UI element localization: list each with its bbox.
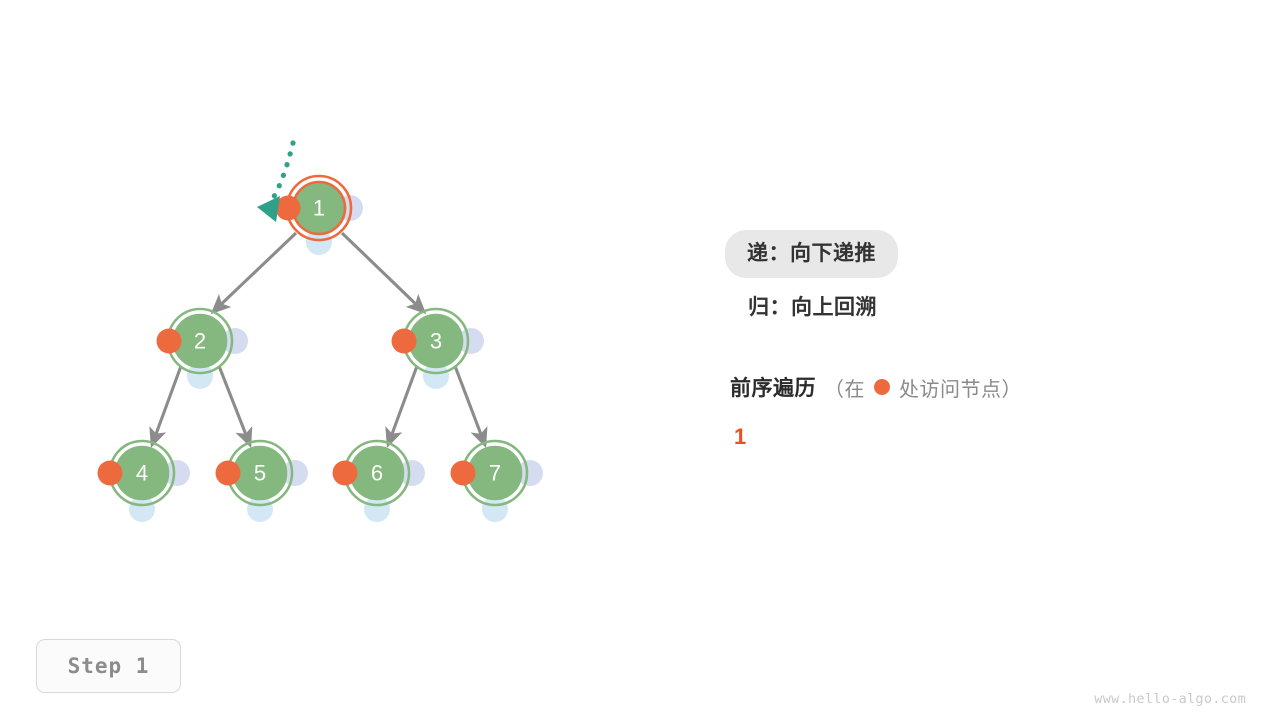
recursion-down-row: 递：向下递推: [726, 230, 1246, 278]
recursion-up-label: 归：向上回溯: [726, 284, 899, 332]
visit-marker-circle-icon: [874, 379, 890, 395]
watermark: www.hello-algo.com: [1094, 691, 1246, 707]
node-6-label: 6: [371, 461, 383, 486]
traversal-paren-open: （在: [824, 373, 865, 402]
tree-node-1[interactable]: 1: [276, 176, 364, 255]
step-badge: Step 1: [36, 639, 181, 693]
tree-node-7[interactable]: 7: [451, 441, 544, 522]
recursion-up-row: 归：向上回溯: [726, 278, 1246, 332]
node-5-visit-dot: [216, 461, 241, 486]
edge-1-3: [342, 233, 424, 312]
tree-node-2[interactable]: 2: [157, 309, 249, 389]
recursion-down-label: 递：向下递推: [725, 230, 898, 278]
node-3-label: 3: [430, 329, 442, 354]
tree-node-3[interactable]: 3: [392, 309, 485, 389]
info-panel: 递：向下递推 归：向上回溯 前序遍历 （在 处访问节点） 1: [726, 230, 1246, 450]
edge-3-7: [455, 366, 485, 445]
traversal-paren-close: 处访问节点）: [899, 373, 1022, 402]
node-4-label: 4: [136, 461, 148, 486]
node-4-visit-dot: [98, 461, 123, 486]
edge-3-6: [388, 366, 417, 445]
binary-tree-diagram: 1 2 3 4 5: [0, 0, 700, 600]
traversal-result-sequence: 1: [726, 424, 1246, 450]
tree-node-5[interactable]: 5: [216, 441, 309, 522]
node-2-label: 2: [194, 329, 206, 354]
edge-1-2: [213, 233, 296, 312]
edge-2-5: [219, 366, 250, 445]
pointer-arrowhead-icon: [257, 196, 280, 222]
tree-node-6[interactable]: 6: [333, 441, 426, 522]
node-7-label: 7: [489, 461, 501, 486]
traversal-heading: 前序遍历 （在 处访问节点）: [726, 372, 1246, 402]
node-1-label: 1: [313, 196, 325, 221]
node-6-visit-dot: [333, 461, 358, 486]
tree-node-4[interactable]: 4: [98, 441, 191, 522]
step-badge-label: Step 1: [68, 654, 150, 678]
node-2-visit-dot: [157, 329, 182, 354]
traversal-title: 前序遍历: [730, 372, 816, 402]
edge-2-4: [152, 366, 181, 445]
node-3-visit-dot: [392, 329, 417, 354]
node-5-label: 5: [254, 461, 266, 486]
node-7-visit-dot: [451, 461, 476, 486]
pointer-dotted-curve: [272, 143, 293, 200]
